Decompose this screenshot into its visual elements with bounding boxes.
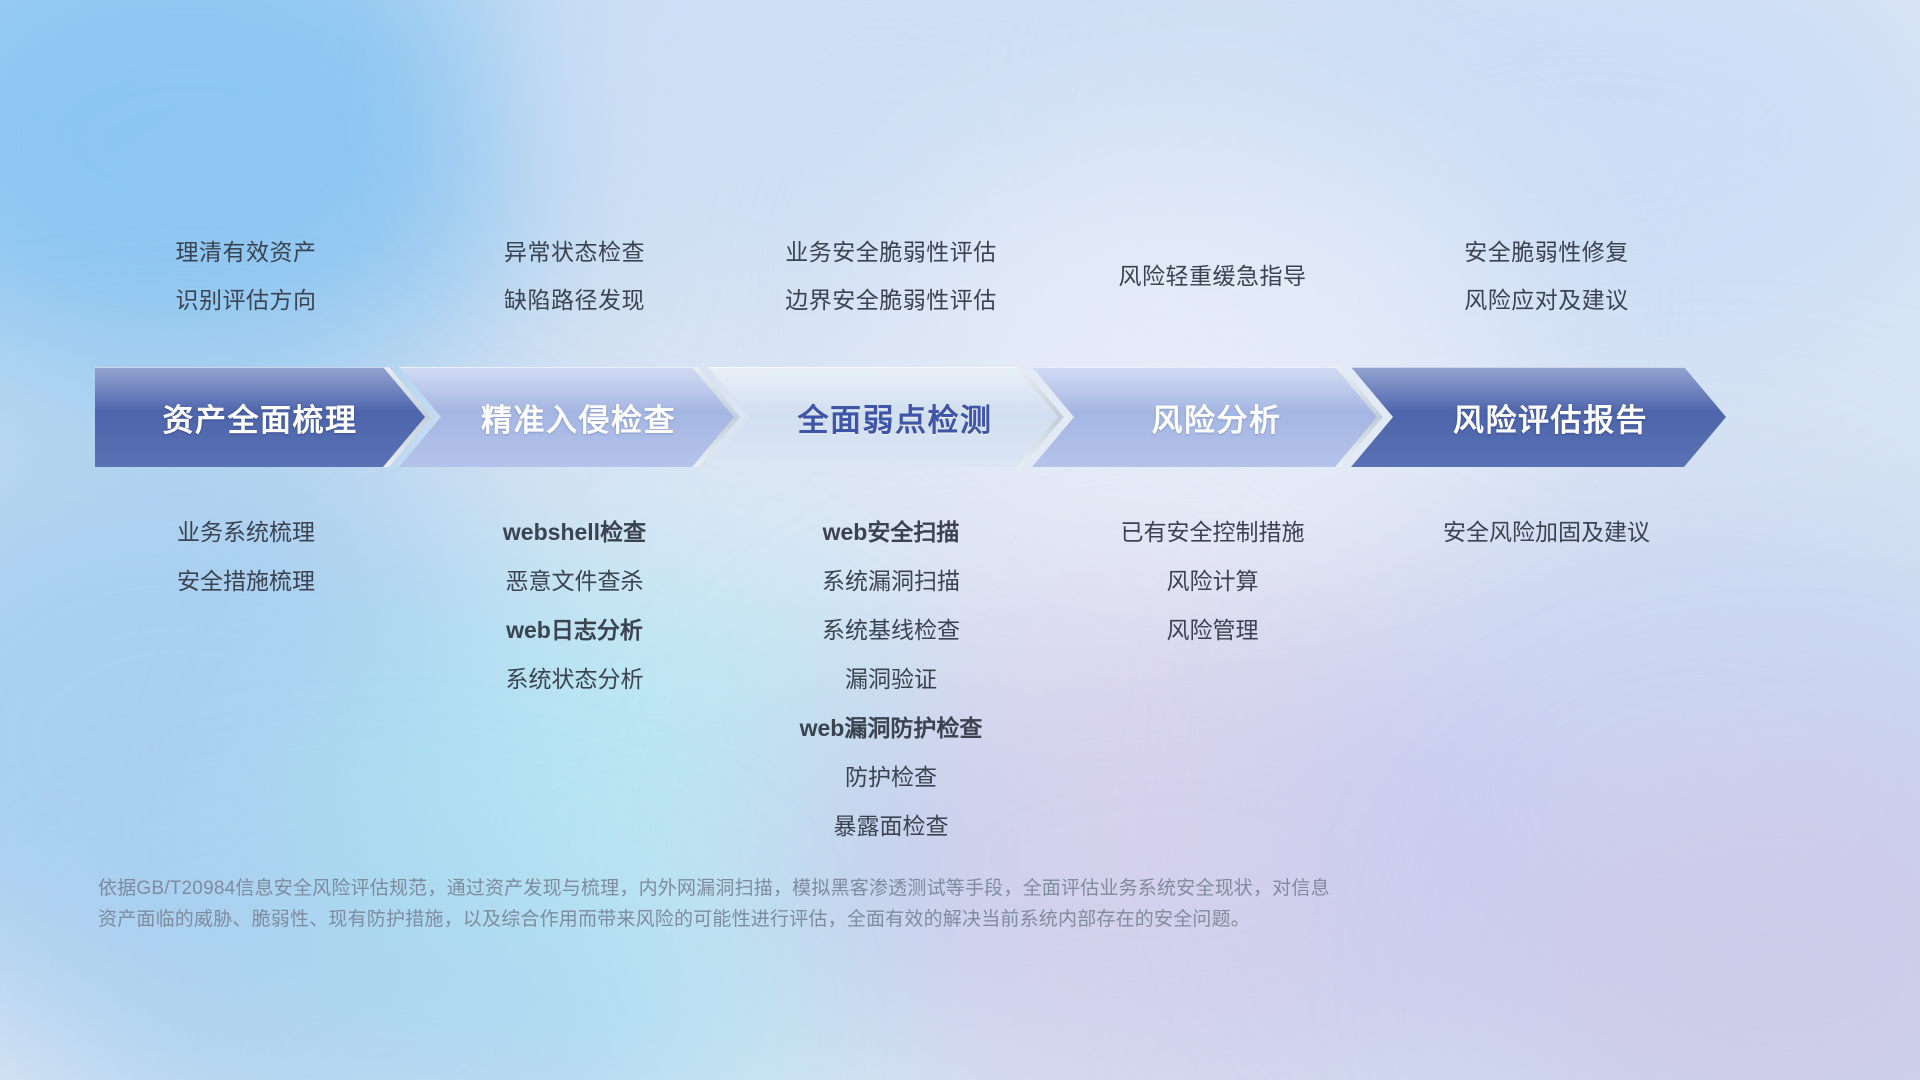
stage-top-captions-assessment-report: 安全脆弱性修复风险应对及建议 — [1337, 228, 1757, 324]
bottom-list-item: 风险计算 — [1003, 557, 1423, 606]
footer-line-2: 资产面临的威胁、脆弱性、现有防护措施，以及综合作用而带来风险的可能性进行评估，全… — [98, 904, 1718, 935]
bottom-list-item: 暴露面检查 — [681, 802, 1101, 851]
chevron-stage-asset-inventory[interactable]: 资产全面梳理 — [95, 367, 425, 467]
chevron-stage-label: 资产全面梳理 — [163, 395, 358, 440]
top-caption-item: 安全脆弱性修复 — [1337, 228, 1757, 276]
chevron-stage-label: 精准入侵检查 — [457, 395, 676, 440]
chevron-stage-intrusion-check[interactable]: 精准入侵检查 — [399, 367, 734, 467]
bottom-list-item: 安全风险加固及建议 — [1337, 508, 1757, 557]
chevron-stage-assessment-report[interactable]: 风险评估报告 — [1351, 367, 1726, 467]
footer-line-1: 依据GB/T20984信息安全风险评估规范，通过资产发现与梳理，内外网漏洞扫描，… — [98, 873, 1718, 904]
bottom-list-item: 漏洞验证 — [681, 655, 1101, 704]
chevron-stage-label: 风险分析 — [1128, 395, 1282, 440]
stage-bottom-items-assessment-report: 安全风险加固及建议 — [1337, 508, 1757, 557]
chevron-stage-weakness-detection[interactable]: 全面弱点检测 — [708, 367, 1058, 467]
bottom-list-item: 防护检查 — [681, 753, 1101, 802]
chevron-stage-label: 全面弱点检测 — [774, 395, 993, 440]
top-caption-item: 风险应对及建议 — [1337, 276, 1757, 324]
chevron-stage-risk-analysis[interactable]: 风险分析 — [1032, 367, 1377, 467]
diagram-stage: 理清有效资产识别评估方向异常状态检查缺陷路径发现业务安全脆弱性评估边界安全脆弱性… — [0, 0, 1920, 1080]
footer-description: 依据GB/T20984信息安全风险评估规范，通过资产发现与梳理，内外网漏洞扫描，… — [98, 873, 1718, 935]
bottom-list-item: 风险管理 — [1003, 606, 1423, 655]
chevron-band: 资产全面梳理精准入侵检查全面弱点检测风险分析风险评估报告 — [95, 367, 1830, 467]
bottom-list-item: web漏洞防护检查 — [681, 704, 1101, 753]
chevron-stage-label: 风险评估报告 — [1429, 395, 1648, 440]
